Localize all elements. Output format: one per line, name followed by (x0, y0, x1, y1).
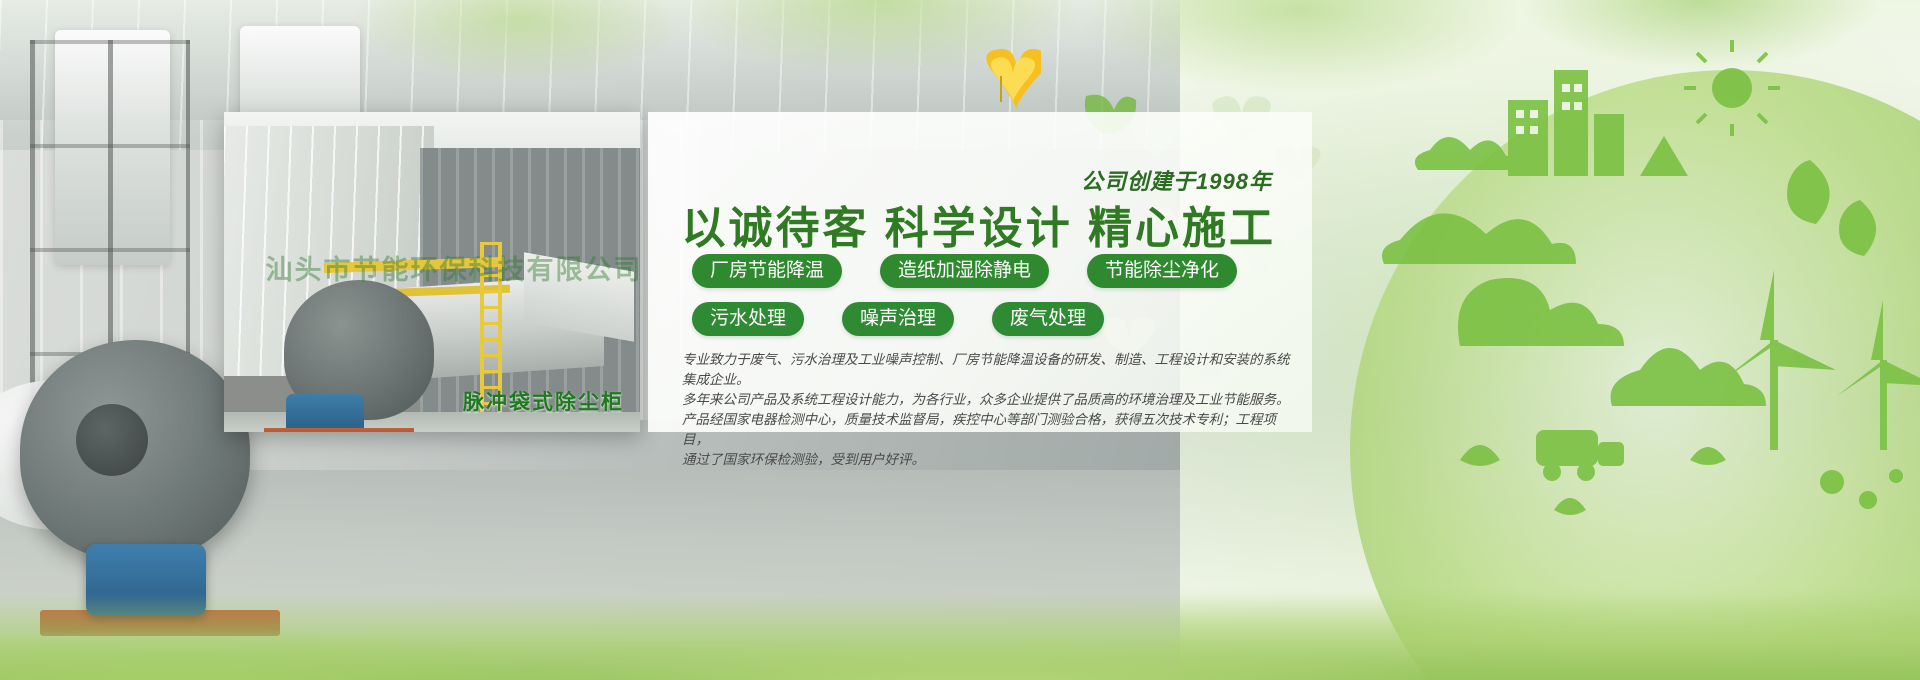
description-line-3: 产品经国家电器检测中心，质量技术监督局，疾控中心等部门测验合格，获得五次技术专利… (682, 410, 1302, 450)
industrial-blower-icon (20, 340, 250, 560)
service-pill-sewage-treatment[interactable]: 污水处理 (692, 302, 804, 336)
service-pill-waste-gas-treatment[interactable]: 废气处理 (992, 302, 1104, 336)
service-pill-noise-control[interactable]: 噪声治理 (842, 302, 954, 336)
photo-machine-base (264, 428, 414, 432)
description-line-2: 多年来公司产品及系统工程设计能力，为各行业，众多企业提供了品质高的环境治理及工业… (682, 390, 1302, 410)
service-pill-group: 厂房节能降温 造纸加湿除静电 节能除尘净化 污水处理 噪声治理 废气处理 (692, 254, 1282, 336)
description-line-1: 专业致力于废气、污水治理及工业噪声控制、厂房节能降温设备的研发、制造、工程设计和… (682, 350, 1302, 390)
company-description: 专业致力于废气、污水治理及工业噪声控制、厂房节能降温设备的研发、制造、工程设计和… (682, 350, 1302, 470)
content-panel: 公司创建于1998年 以诚待客 科学设计 精心施工 厂房节能降温 造纸加湿除静电… (648, 112, 1312, 432)
service-pill-dust-purification[interactable]: 节能除尘净化 (1087, 254, 1237, 288)
headline-slogan: 以诚待客 科学设计 精心施工 (682, 192, 1276, 256)
grass-icon (0, 594, 1920, 680)
service-pill-factory-cooling[interactable]: 厂房节能降温 (692, 254, 842, 288)
project-photo-card: 脉冲袋式除尘柜 (224, 112, 640, 432)
photo-caption: 脉冲袋式除尘柜 (463, 386, 624, 416)
electric-motor-icon (286, 394, 364, 432)
eco-city-silhouette-icon (1340, 40, 1920, 560)
butterfly-icon (965, 48, 1041, 118)
description-line-4: 通过了国家环保检测验，受到用户好评。 (682, 450, 1302, 470)
service-pill-paper-humidify[interactable]: 造纸加湿除静电 (880, 254, 1049, 288)
promo-banner: 脉冲袋式除尘柜 汕头市节能环保科技有限公司 公司创建于1998年 以诚待客 科学… (0, 0, 1920, 680)
